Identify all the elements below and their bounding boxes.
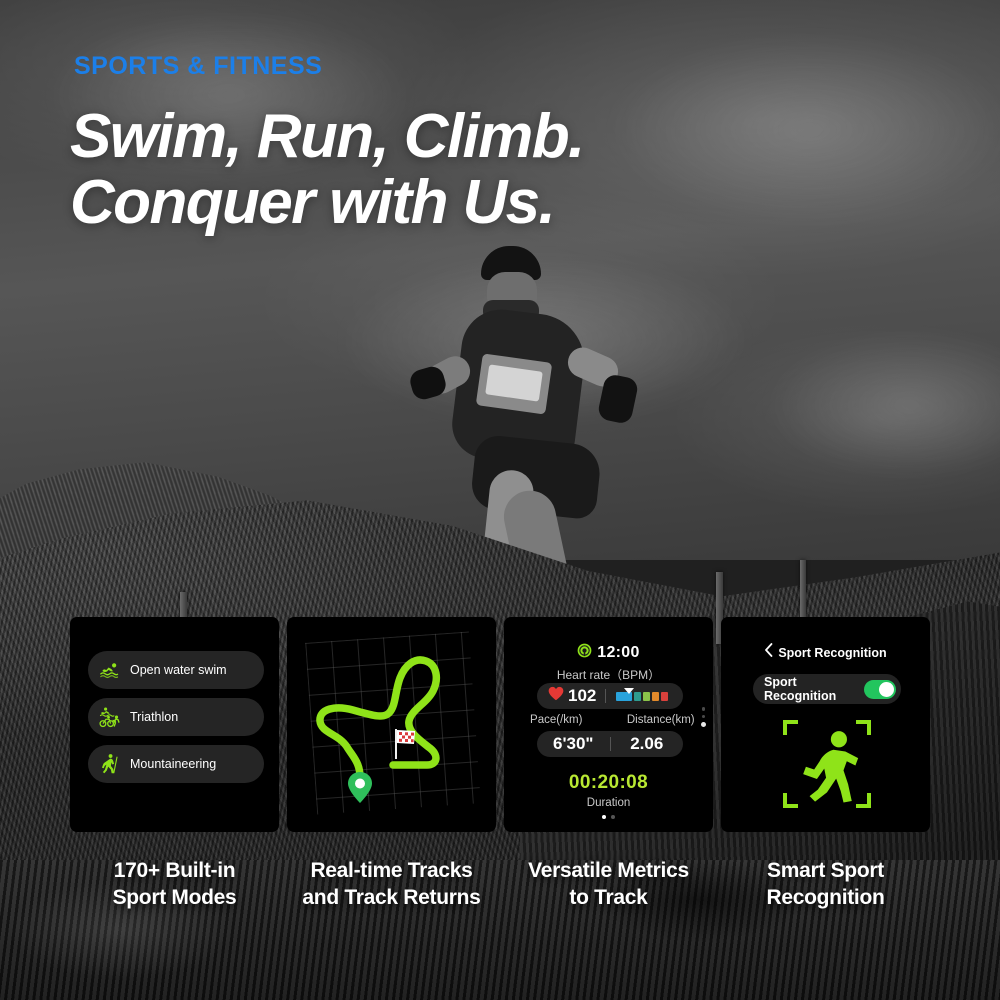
route-path [287,617,496,832]
swimmer-icon [99,659,121,681]
caption-real-time-track: Real-time Tracks and Track Returns [287,858,496,912]
page-dot [611,815,615,819]
running-person-icon [783,720,871,808]
headline-line-1: Swim, Run, Climb. [70,104,584,170]
eyebrow-label: SPORTS & FITNESS [74,52,322,81]
headline-line-2: Conquer with Us. [70,170,584,236]
cloud [600,30,1000,230]
screen-header: Sport Recognition [721,643,930,662]
distance-value: 2.06 [611,734,684,754]
scroll-dot-active [701,722,706,727]
setting-label: Sport Recognition [764,675,864,703]
heart-rate-label: Heart rate（BPM） [504,666,713,683]
pace-label: Pace(/km) [504,714,609,726]
zone-segment [634,692,641,701]
sport-recognition-toggle[interactable] [864,680,896,699]
chevron-left-icon[interactable] [764,643,773,662]
recognition-frame [783,720,871,808]
scroll-indicator[interactable] [701,707,706,727]
caption-line-2: to Track [504,885,713,912]
zone-marker-icon [624,688,634,694]
zone-segment [652,692,659,701]
caption-line-2: Sport Modes [70,885,279,912]
card-workout-metrics: 12:00 Heart rate（BPM） 102 Pace(/km) D [504,617,713,832]
sport-mode-item-mountaineering[interactable]: Mountaineering [88,745,264,783]
sport-mode-label: Open water swim [130,663,227,677]
caption-line-1: Real-time Tracks [287,858,496,885]
caption-line-1: Smart Sport [721,858,930,885]
caption-line-1: Versatile Metrics [504,858,713,885]
time-row: 12:00 [504,643,713,663]
card-real-time-track [287,617,496,832]
page-indicator[interactable] [504,815,713,819]
heart-rate-pill[interactable]: 102 [537,683,683,709]
sport-mode-label: Triathlon [130,710,178,724]
gps-signal-icon [577,643,592,663]
caption-line-2: and Track Returns [287,885,496,912]
sport-mode-label: Mountaineering [130,757,216,771]
heart-rate-value: 102 [568,686,596,706]
caption-workout-metrics: Versatile Metrics to Track [504,858,713,912]
sport-mode-item-open-water-swim[interactable]: Open water swim [88,651,264,689]
card-sport-recognition: Sport Recognition Sport Recognition [721,617,930,832]
heart-icon [548,686,564,706]
caption-line-1: 170+ Built-in [70,858,279,885]
caption-sport-modes: 170+ Built-in Sport Modes [70,858,279,912]
feature-cards-row: Open water swim Triat [70,617,930,832]
distance-label: Distance(km) [609,714,714,726]
sport-mode-list: Open water swim Triat [88,651,264,783]
captions-row: 170+ Built-in Sport Modes Real-time Trac… [70,858,930,912]
checkered-flag-icon [391,727,421,761]
card-sport-modes: Open water swim Triat [70,617,279,832]
page-title: Swim, Run, Climb. Conquer with Us. [70,104,584,237]
sport-recognition-setting-row[interactable]: Sport Recognition [753,674,901,704]
zone-segment [661,692,668,701]
location-pin-icon [345,769,375,807]
scroll-dot [702,707,706,711]
divider [605,689,606,703]
sport-mode-item-triathlon[interactable]: Triathlon [88,698,264,736]
scroll-dot [702,715,706,719]
triathlon-icon [99,706,121,728]
pace-distance-labels: Pace(/km) Distance(km) [504,714,713,726]
clock-time: 12:00 [597,644,639,662]
caption-line-2: Recognition [721,885,930,912]
heart-rate-zone-bar [616,692,668,701]
fence-post [800,560,806,622]
caption-sport-recognition: Smart Sport Recognition [721,858,930,912]
screen-title: Sport Recognition [778,646,886,660]
page-dot-active [602,815,606,819]
pace-distance-pill[interactable]: 6'30" 2.06 [537,731,683,757]
pace-value: 6'30" [537,734,610,754]
mountaineering-icon [99,753,121,775]
zone-segment [643,692,650,701]
duration-label: Duration [504,797,713,809]
toggle-knob [879,682,894,697]
duration-value: 00:20:08 [504,772,713,794]
